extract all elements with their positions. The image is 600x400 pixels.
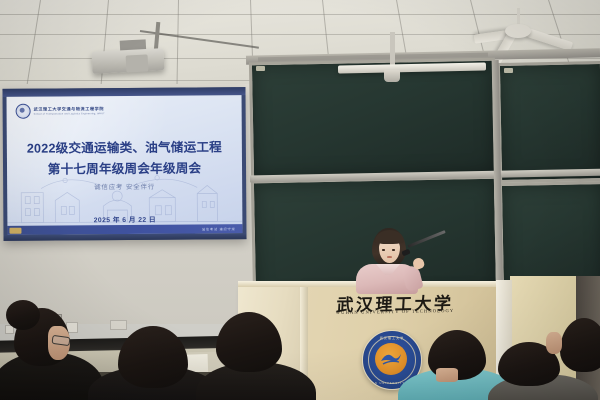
chalkboard-panel <box>497 61 600 183</box>
slide-title-line-1: 2022级交通运输类、油气储运工程 <box>7 136 242 157</box>
light-canister <box>384 70 400 82</box>
wall-outlet[interactable] <box>110 320 127 330</box>
speaker-eye <box>382 249 385 251</box>
speaker-mouth <box>387 256 392 258</box>
student-neck <box>436 368 458 382</box>
ceiling-fan-hub <box>505 24 531 38</box>
chalk-piece-icon <box>504 68 513 73</box>
presentation-slide: 武汉理工大学交通与物流工程学院 School of Transportation… <box>7 95 243 235</box>
ceiling-fan-blade <box>527 28 574 51</box>
classroom-photo: 武汉理工大学交通与物流工程学院 School of Transportation… <box>0 0 600 400</box>
university-seal-icon <box>16 104 31 119</box>
slide-corner-accent <box>9 227 21 233</box>
chalk-piece-icon <box>256 66 265 71</box>
slide-org-name-cn: 武汉理工大学交通与物流工程学院 <box>34 106 105 112</box>
speaker-eye <box>392 249 395 251</box>
projection-screen[interactable]: 武汉理工大学交通与物流工程学院 School of Transportation… <box>2 87 246 241</box>
slide-subtitle: 诚信应考 安全伴行 <box>7 181 242 192</box>
student-head <box>118 326 188 388</box>
slide-org-name-en: School of Transportation and Logistics E… <box>34 113 105 115</box>
chalkboard-panel <box>249 58 497 181</box>
student-hand <box>546 332 562 354</box>
slide-title-line-2: 第十七周年级周会年级周会 <box>7 157 242 178</box>
slide-college-logo: 武汉理工大学交通与物流工程学院 School of Transportation… <box>16 103 105 119</box>
light-stem <box>390 32 395 68</box>
student-hair-bun <box>6 300 40 330</box>
emblem-wave-icon <box>379 349 403 367</box>
slide-date: 2025 年 6 月 22 日 <box>7 213 242 225</box>
projector-lens-icon <box>126 54 149 72</box>
emblem-text-top: 武汉理工大学 <box>363 335 421 340</box>
slide-footer-text: 诚信考试 遵纪守规 <box>202 226 236 231</box>
